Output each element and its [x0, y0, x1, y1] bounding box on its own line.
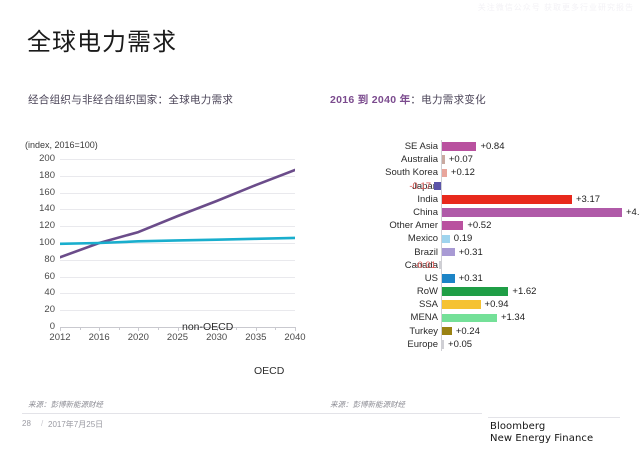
bar-row: Mexico0.19: [318, 232, 628, 245]
bar-category-label: MENA: [342, 311, 438, 324]
y-axis-tick: 100: [21, 237, 55, 248]
bar-value-label: +1.62: [512, 285, 536, 298]
bar-track: +0.12: [438, 166, 628, 179]
logo-line-2: New Energy Finance: [490, 433, 593, 445]
bar-value-label: +0.24: [456, 325, 480, 338]
bar-track: 0.19: [438, 232, 628, 245]
bar-se-asia: [442, 142, 476, 151]
slide-root: 关注微信公众号 获取更多行业研究报告 全球电力需求 经合组织与非经合组织国家：全…: [0, 0, 640, 452]
bar-ssa: [442, 300, 481, 309]
x-axis-tick: 2012: [49, 332, 70, 343]
footer-date: 2017年7月25日: [48, 419, 103, 430]
x-axis-tick: 2016: [89, 332, 110, 343]
bar-value-label: +0.94: [485, 298, 509, 311]
bar-category-label: Brazil: [342, 246, 438, 259]
bar-mena: [442, 314, 497, 323]
bar-row: Other Amer+0.52: [318, 219, 628, 232]
bar-row: Turkey+0.24: [318, 325, 628, 338]
bar-value-label: +0.31: [459, 272, 483, 285]
bar-us: [442, 274, 455, 283]
footer-divider: [22, 413, 482, 414]
x-axis-tickmark: [60, 327, 61, 331]
page-number: 28: [22, 419, 31, 428]
x-axis-tickmark: [256, 327, 257, 331]
y-axis-tick: 0: [21, 321, 55, 332]
bar-category-label: China: [342, 206, 438, 219]
x-axis-minor-tickmark: [236, 327, 237, 330]
bar-australia: [442, 155, 445, 164]
bar-track: +0.05: [438, 338, 628, 351]
bar-track: +4.39: [438, 206, 628, 219]
series-label-oecd: OECD: [254, 365, 284, 377]
bar-value-label: +1.34: [501, 311, 525, 324]
bar-track: +1.34: [438, 311, 628, 324]
bar-track: +0.07: [438, 153, 628, 166]
zero-axis-line: [441, 180, 442, 193]
bar-turkey: [442, 327, 452, 336]
bar-value-label: +0.31: [459, 246, 483, 259]
bloomberg-logo: Bloomberg New Energy Finance: [490, 421, 593, 445]
x-axis-minor-tickmark: [119, 327, 120, 330]
bar-brazil: [442, 248, 455, 257]
bar-value-label: -0.17: [409, 180, 431, 193]
footer-separator: /: [41, 419, 43, 428]
bar-other-amer: [442, 221, 463, 230]
bar-row: RoW+1.62: [318, 285, 628, 298]
bar-track: +0.24: [438, 325, 628, 338]
bar-category-label: Australia: [342, 153, 438, 166]
x-axis-tick: 2035: [245, 332, 266, 343]
bar-value-label: +0.05: [448, 338, 472, 351]
bar-track: -0.17: [438, 180, 628, 193]
bar-japan: [434, 182, 441, 191]
bar-chart: SE Asia+0.84Australia+0.07South Korea+0.…: [318, 140, 628, 358]
bar-row: MENA+1.34: [318, 311, 628, 324]
bar-row: China+4.39: [318, 206, 628, 219]
x-axis-tick: 2030: [206, 332, 227, 343]
bar-category-label: US: [342, 272, 438, 285]
source-note-right: 来源：彭博新能源财经: [330, 399, 405, 410]
line-chart-series-area: [60, 159, 295, 327]
bar-track: +1.62: [438, 285, 628, 298]
bar-value-label: +0.12: [451, 166, 475, 179]
bar-track: +0.84: [438, 140, 628, 153]
bar-category-label: SE Asia: [342, 140, 438, 153]
bar-track: -0.01: [438, 259, 628, 272]
bar-value-label: +0.52: [467, 219, 491, 232]
bar-row: India+3.17: [318, 193, 628, 206]
line-chart: (index, 2016=100) 0204060801001201401601…: [22, 140, 302, 360]
bar-row: Europe+0.05: [318, 338, 628, 351]
y-axis-tick: 160: [21, 187, 55, 198]
watermark-text: 关注微信公众号 获取更多行业研究报告: [416, 2, 634, 36]
line-series-oecd: [60, 238, 295, 244]
zero-axis-line: [441, 259, 442, 272]
bar-category-label: South Korea: [342, 166, 438, 179]
right-subtitle-rest: ：电力需求变化: [410, 94, 486, 106]
bar-value-label: -0.01: [414, 259, 436, 272]
y-axis-tick: 140: [21, 203, 55, 214]
bar-value-label: +0.07: [449, 153, 473, 166]
x-axis-tickmark: [138, 327, 139, 331]
bar-canada: [439, 261, 441, 270]
x-axis-tick: 2025: [167, 332, 188, 343]
series-label-non-oecd: non-OECD: [182, 321, 233, 333]
bar-category-label: Europe: [342, 338, 438, 351]
bar-track: +0.52: [438, 219, 628, 232]
bar-south-korea: [442, 169, 447, 178]
left-chart-subtitle: 经合组织与非经合组织国家：全球电力需求: [28, 92, 233, 107]
x-axis-tickmark: [178, 327, 179, 331]
bar-category-label: SSA: [342, 298, 438, 311]
bar-track: +0.31: [438, 272, 628, 285]
bar-india: [442, 195, 572, 204]
bar-mexico: [442, 235, 450, 244]
bar-europe: [442, 340, 444, 349]
source-note-left: 来源：彭博新能源财经: [28, 399, 103, 410]
bar-category-label: Turkey: [342, 325, 438, 338]
x-axis-tick: 2040: [284, 332, 305, 343]
logo-line-1: Bloomberg: [490, 421, 593, 433]
bar-row: South Korea+0.12: [318, 166, 628, 179]
right-chart-subtitle: 2016 到 2040 年：电力需求变化: [330, 92, 486, 107]
y-axis-tick: 20: [21, 304, 55, 315]
bar-category-label: RoW: [342, 285, 438, 298]
bar-row: Japan-0.17: [318, 180, 628, 193]
x-axis-minor-tickmark: [158, 327, 159, 330]
bar-value-label: +0.84: [480, 140, 504, 153]
y-axis-tick: 60: [21, 271, 55, 282]
x-axis-tick: 2020: [128, 332, 149, 343]
bar-value-label: +4.39: [626, 206, 640, 219]
bar-row: [442, 287, 508, 296]
bar-row: SE Asia+0.84: [318, 140, 628, 153]
bar-category-label: Other Amer: [342, 219, 438, 232]
line-chart-unit-label: (index, 2016=100): [25, 140, 98, 150]
bar-value-label: +3.17: [576, 193, 600, 206]
bar-track: +3.17: [438, 193, 628, 206]
bar-track: +0.94: [438, 298, 628, 311]
bar-china: [442, 208, 622, 217]
y-axis-tick: 120: [21, 220, 55, 231]
bar-row: SSA+0.94: [318, 298, 628, 311]
bar-row: Brazil+0.31: [318, 246, 628, 259]
y-axis-tick: 40: [21, 287, 55, 298]
bar-track: +0.31: [438, 246, 628, 259]
y-axis-tick: 180: [21, 170, 55, 181]
bar-row: US+0.31: [318, 272, 628, 285]
x-axis-tickmark: [99, 327, 100, 331]
y-axis-tick: 80: [21, 254, 55, 265]
bar-row: Australia+0.07: [318, 153, 628, 166]
x-axis-minor-tickmark: [275, 327, 276, 330]
bar-row: Canada-0.01: [318, 259, 628, 272]
x-axis-tickmark: [295, 327, 296, 331]
logo-divider: [488, 417, 620, 418]
bar-value-label: 0.19: [454, 232, 473, 245]
x-axis-minor-tickmark: [80, 327, 81, 330]
y-axis-tick: 200: [21, 153, 55, 164]
right-subtitle-highlight: 2016 到 2040 年: [330, 94, 410, 106]
bar-category-label: Mexico: [342, 232, 438, 245]
page-title: 全球电力需求: [27, 22, 177, 57]
bar-category-label: India: [342, 193, 438, 206]
